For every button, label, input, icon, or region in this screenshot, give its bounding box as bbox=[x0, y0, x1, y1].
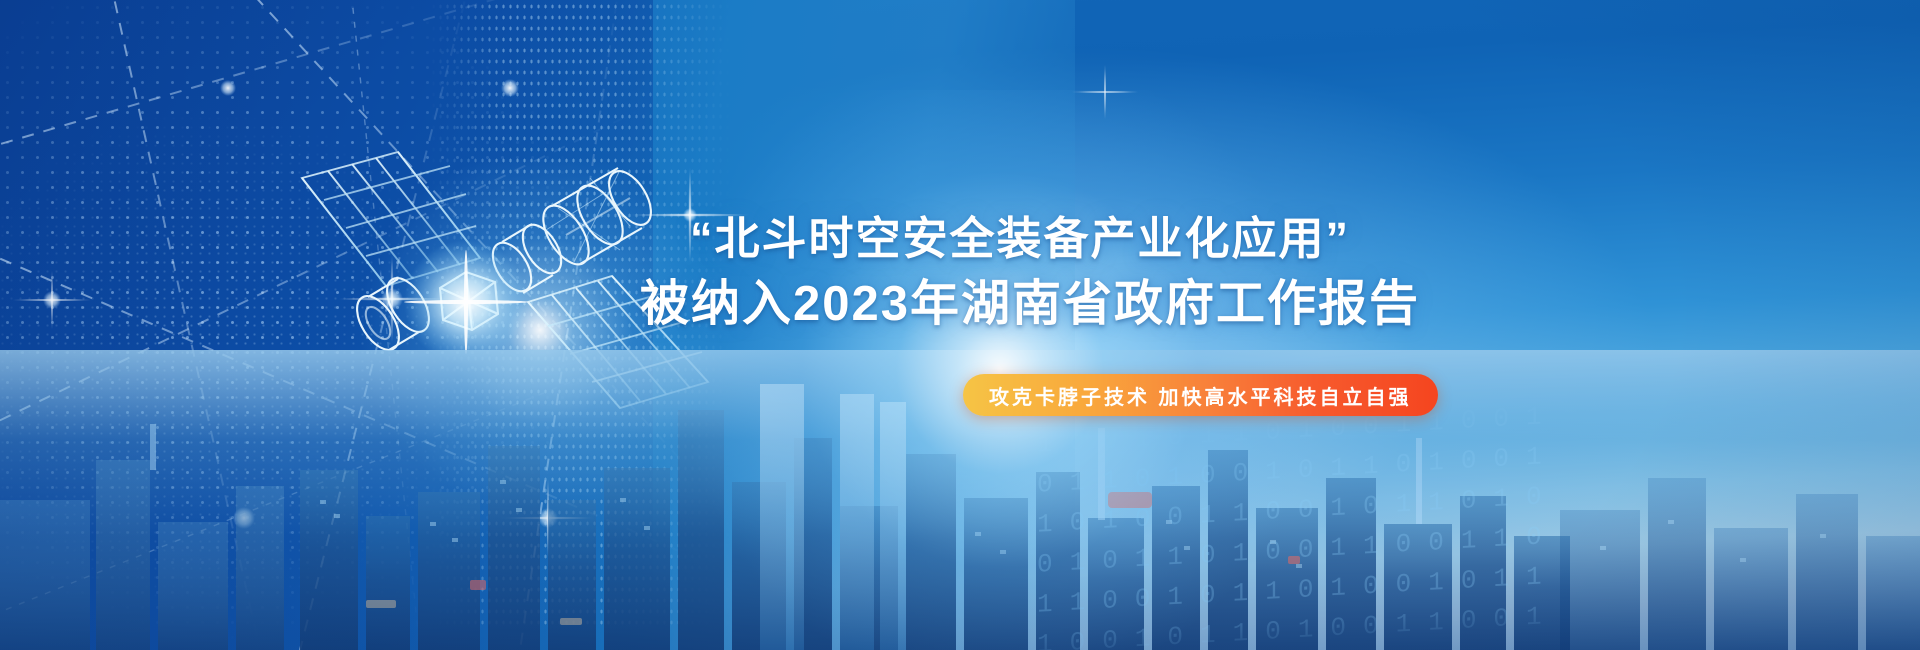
slogan-pill-button[interactable]: 攻克卡脖子技术 加快高水平科技自立自强 bbox=[963, 374, 1438, 416]
slogan-pill-wrapper: 攻克卡脖子技术 加快高水平科技自立自强 bbox=[963, 374, 1438, 416]
headline-line-1: “北斗时空安全装备产业化应用” bbox=[640, 212, 1400, 267]
banner-hero: 1001011010011001 0110100101101001 101001… bbox=[0, 0, 1920, 650]
city-skyline-graphic: 1001011010011001 0110100101101001 101001… bbox=[0, 350, 1920, 650]
skyline-buildings bbox=[0, 350, 1920, 650]
banner-headline: “北斗时空安全装备产业化应用” 被纳入2023年湖南省政府工作报告 bbox=[640, 212, 1400, 335]
headline-line-2: 被纳入2023年湖南省政府工作报告 bbox=[640, 275, 1400, 335]
